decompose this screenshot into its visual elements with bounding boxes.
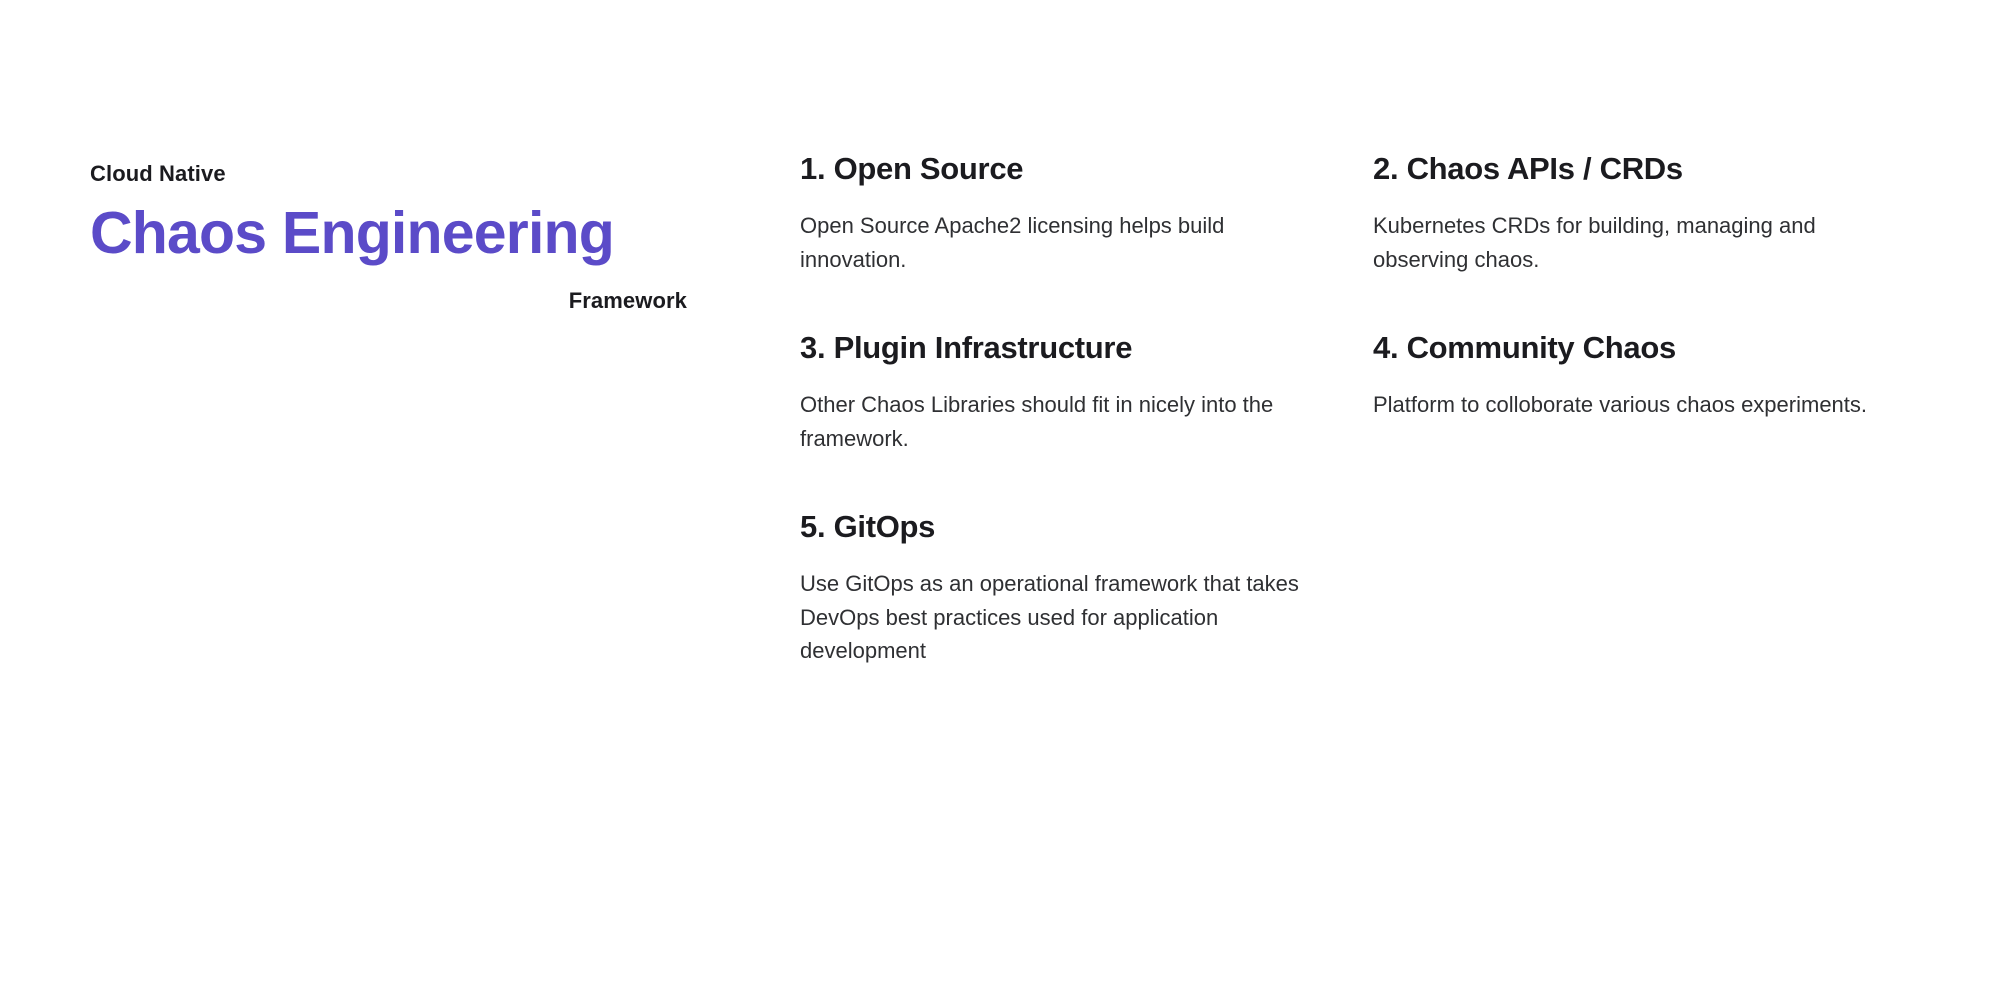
feature-item: 1. Open Source Open Source Apache2 licen… — [800, 150, 1300, 276]
subtitle-label: Framework — [90, 287, 690, 315]
feature-item: 3. Plugin Infrastructure Other Chaos Lib… — [800, 329, 1300, 455]
feature-title: 4. Community Chaos — [1373, 329, 1873, 366]
features-grid: 1. Open Source Open Source Apache2 licen… — [800, 150, 1920, 668]
title-block: Cloud Native Chaos Engineering Framework — [90, 160, 690, 315]
feature-body: Other Chaos Libraries should fit in nice… — [800, 388, 1300, 455]
page-title: Chaos Engineering — [90, 202, 690, 266]
feature-item: 5. GitOps Use GitOps as an operational f… — [800, 508, 1300, 668]
feature-body: Use GitOps as an operational framework t… — [800, 567, 1300, 667]
feature-body: Kubernetes CRDs for building, managing a… — [1373, 209, 1873, 276]
feature-title: 2. Chaos APIs / CRDs — [1373, 150, 1873, 187]
feature-title: 5. GitOps — [800, 508, 1300, 545]
feature-title: 3. Plugin Infrastructure — [800, 329, 1300, 366]
slide-root: Cloud Native Chaos Engineering Framework… — [0, 0, 2000, 1000]
feature-body: Platform to colloborate various chaos ex… — [1373, 388, 1873, 421]
eyebrow-label: Cloud Native — [90, 160, 690, 188]
features-column-right: 2. Chaos APIs / CRDs Kubernetes CRDs for… — [1373, 150, 1873, 668]
features-column-left: 1. Open Source Open Source Apache2 licen… — [800, 150, 1300, 668]
feature-item: 4. Community Chaos Platform to collobora… — [1373, 329, 1873, 422]
feature-item: 2. Chaos APIs / CRDs Kubernetes CRDs for… — [1373, 150, 1873, 276]
feature-body: Open Source Apache2 licensing helps buil… — [800, 209, 1300, 276]
feature-title: 1. Open Source — [800, 150, 1300, 187]
